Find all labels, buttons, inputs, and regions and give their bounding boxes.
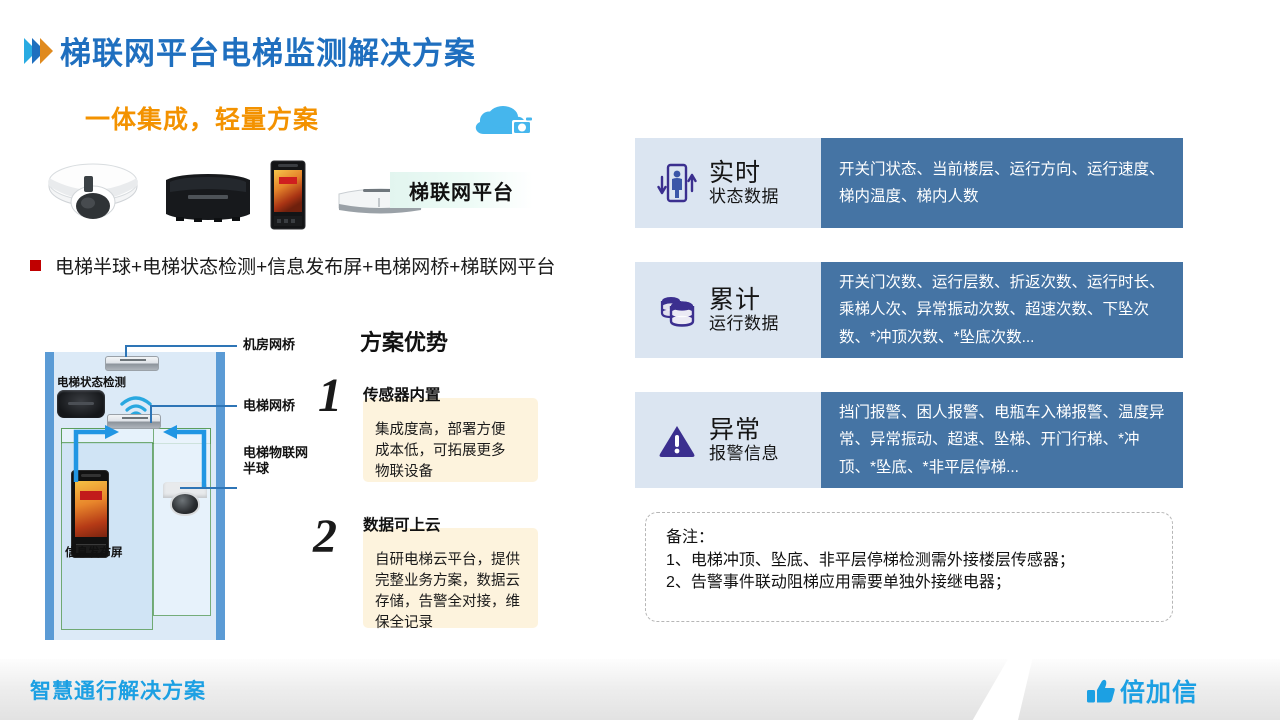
leader-machine-room-drop (125, 345, 127, 357)
footer-bar: 智慧通行解决方案 倍加信 (0, 659, 1280, 720)
info-screen-label: 信息发布屏 (65, 544, 123, 560)
page-title: 梯联网平台电梯监测解决方案 (24, 28, 476, 73)
note-line-1: 1、电梯冲顶、坠底、非平层停梯检测需外接楼层传感器； (666, 550, 1152, 573)
advantage-2-line-1: 自研电梯云平台，提供 (375, 550, 526, 571)
panel-alarm-content: 挡门报警、困人报警、电瓶车入梯报警、温度异常、异常振动、超速、坠梯、开门行梯、*… (821, 392, 1183, 488)
panel-realtime-content: 开关门状态、当前楼层、运行方向、运行速度、梯内温度、梯内人数 (821, 138, 1183, 228)
footer-title: 智慧通行解决方案 (30, 675, 206, 705)
callout-elevator-dome: 电梯物联网 半球 (243, 445, 308, 478)
elevator-person-icon (657, 161, 697, 205)
panel-alarm-title: 异常 (709, 416, 779, 444)
panel-realtime-titles: 实时 状态数据 (709, 159, 779, 206)
advantage-2-line-2: 完整业务方案，数据云 (375, 571, 526, 592)
database-icon (657, 288, 697, 332)
shaft-right-wall (216, 352, 225, 640)
screen-poster (75, 481, 107, 537)
advantage-1-line-3: 物联设备 (375, 462, 526, 483)
panel-alarm-subtitle: 报警信息 (709, 444, 779, 463)
note-line-0: 备注： (666, 527, 1152, 550)
advantage-2-line-4: 保全记录 (375, 613, 526, 634)
diagram-status-detector (57, 390, 105, 418)
arrow-dome-to-bridge (163, 418, 211, 490)
panel-cumulative-title: 累计 (709, 286, 779, 314)
panel-cumulative-titles: 累计 运行数据 (709, 286, 779, 333)
advantage-number-2: 2 (313, 513, 337, 561)
note-line-2: 2、告警事件联动阻梯应用需要单独外接继电器； (666, 572, 1152, 595)
brand-name: 倍加信 (1120, 673, 1198, 709)
dome-lens (170, 492, 200, 516)
panel-alarm: 异常 报警信息 挡门报警、困人报警、电瓶车入梯报警、温度异常、异常振动、超速、坠… (635, 392, 1183, 488)
advantage-card-2: 自研电梯云平台，提供 完整业务方案，数据云 存储，告警全对接，维 保全记录 (363, 528, 538, 628)
cloud-camera-icon (470, 100, 540, 142)
machine-room-bridge-device (105, 356, 159, 371)
leader-elevator-bridge-drop (150, 405, 152, 423)
elevator-diagram: 电梯状态检测 信息发布屏 (45, 352, 225, 640)
brand-logo: 倍加信 (1086, 673, 1198, 709)
leader-elevator-bridge (150, 405, 237, 407)
status-detector-device (160, 172, 256, 222)
advantage-heading-2: 数据可上云 (363, 513, 441, 535)
callout-elevator-bridge: 电梯网桥 (243, 398, 295, 414)
panel-realtime-subtitle: 状态数据 (709, 187, 779, 206)
panel-cumulative-subtitle: 运行数据 (709, 314, 779, 333)
chevron-logo (24, 38, 48, 64)
dome-camera (40, 162, 146, 226)
shaft-left-wall (45, 352, 54, 640)
callout-machine-room-bridge: 机房网桥 (243, 337, 295, 353)
panel-alarm-header: 异常 报警信息 (635, 392, 821, 488)
panel-cumulative: 累计 运行数据 开关门次数、运行层数、折返次数、运行时长、乘梯人次、异常振动次数… (635, 262, 1183, 358)
platform-badge-label: 梯联网平台 (409, 176, 514, 205)
notes-box: 备注： 1、电梯冲顶、坠底、非平层停梯检测需外接楼层传感器； 2、告警事件联动阻… (645, 512, 1173, 622)
callout-dome-line2: 半球 (243, 461, 269, 476)
chevron-icon-3 (40, 38, 53, 64)
status-detection-label: 电梯状态检测 (57, 374, 126, 390)
leader-dome (180, 487, 237, 489)
bullet-text: 电梯半球+电梯状态检测+信息发布屏+电梯网桥+梯联网平台 (55, 252, 555, 279)
advantage-number-1: 1 (318, 372, 342, 420)
subtitle-text: 一体集成，轻量方案 (85, 100, 319, 136)
info-display-screen-device (270, 160, 306, 230)
warning-triangle-icon (657, 418, 697, 462)
panel-cumulative-header: 累计 运行数据 (635, 262, 821, 358)
advantage-1-line-2: 成本低，可拓展更多 (375, 441, 526, 462)
main-title-text: 梯联网平台电梯监测解决方案 (60, 28, 476, 73)
bullet-square-icon (30, 260, 41, 271)
panel-cumulative-content: 开关门次数、运行层数、折返次数、运行时长、乘梯人次、异常振动次数、超速次数、下坠… (821, 262, 1183, 358)
leader-machine-room (125, 345, 237, 347)
panel-alarm-titles: 异常 报警信息 (709, 416, 779, 463)
advantage-body-2: 自研电梯云平台，提供 完整业务方案，数据云 存储，告警全对接，维 保全记录 (375, 550, 526, 634)
callout-dome-line1: 电梯物联网 (243, 445, 308, 460)
arrow-screen-to-bridge (69, 418, 121, 484)
platform-badge: 梯联网平台 (390, 172, 533, 208)
bullet-row: 电梯半球+电梯状态检测+信息发布屏+电梯网桥+梯联网平台 (30, 252, 555, 279)
advantage-body-1: 集成度高，部署方便 成本低，可拓展更多 物联设备 (375, 420, 526, 483)
advantage-2-line-3: 存储，告警全对接，维 (375, 592, 526, 613)
panel-realtime-header: 实时 状态数据 (635, 138, 821, 228)
advantages-title: 方案优势 (360, 325, 448, 357)
panel-realtime: 实时 状态数据 开关门状态、当前楼层、运行方向、运行速度、梯内温度、梯内人数 (635, 138, 1183, 228)
slide-root: 梯联网平台电梯监测解决方案 一体集成，轻量方案 (0, 0, 1280, 720)
panel-realtime-title: 实时 (709, 159, 779, 187)
thumbs-up-icon (1086, 677, 1116, 705)
advantage-card-1: 集成度高，部署方便 成本低，可拓展更多 物联设备 (363, 398, 538, 482)
advantage-heading-1: 传感器内置 (363, 383, 441, 405)
advantage-1-line-1: 集成度高，部署方便 (375, 420, 526, 441)
